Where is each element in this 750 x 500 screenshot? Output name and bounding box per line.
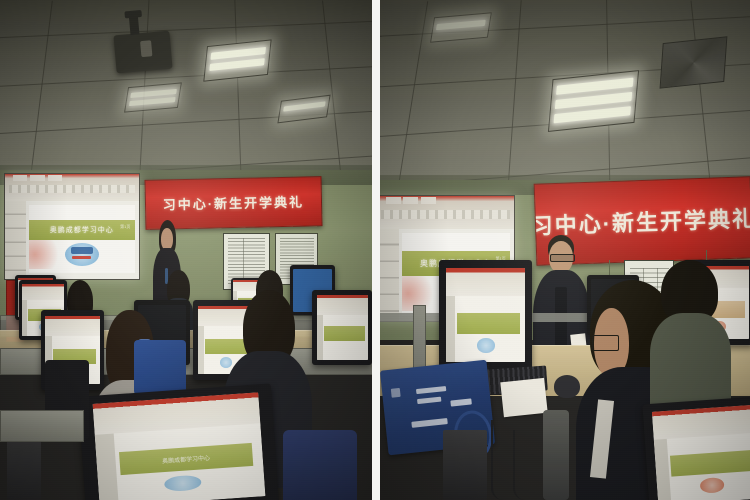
- ppt-slide-thumbnails: [380, 229, 399, 322]
- slide-logo: [65, 243, 99, 266]
- ceiling-light-1: [548, 70, 639, 132]
- ceiling-light-2: [125, 82, 183, 112]
- panel-divider: [372, 0, 380, 500]
- ppt-ribbon: [5, 174, 139, 201]
- office-chair-left: [283, 430, 357, 500]
- slide-page-number: 第1页: [120, 224, 130, 230]
- monitor-mid-4: [312, 290, 372, 365]
- ceiling-projector: [114, 30, 173, 72]
- glasses-icon: [550, 254, 574, 263]
- ppt-slide-thumbnails: [5, 201, 26, 279]
- foreground-monitor: 奥鹏成都学习中心: [78, 383, 279, 500]
- ceiling-light-1: [203, 39, 272, 81]
- foreground-monitor-right: [643, 396, 750, 500]
- mouse: [554, 375, 580, 398]
- ceiling-air-vent: [660, 36, 728, 88]
- projected-powerpoint: 奥鹏成都学习中心 第1页: [5, 174, 139, 279]
- student-second-row: [650, 260, 731, 400]
- foreground-monitor-screen: 奥鹏成都学习中心: [92, 393, 265, 500]
- glasses-icon: [592, 335, 619, 351]
- slide-title-band: 奥鹏成都学习中心: [29, 220, 135, 241]
- projection-screen: 奥鹏成都学习中心 第1页: [4, 173, 140, 280]
- foreground-slide-title: 奥鹏成都学习中心: [162, 452, 211, 464]
- ppt-slide: 奥鹏成都学习中心 第1页: [29, 205, 135, 273]
- ceremony-banner-text: 习中心·新生开学典礼: [163, 191, 305, 213]
- left-photo: 奥鹏成都学习中心 第1页 习中心·新生开学典礼: [0, 0, 372, 500]
- monitor-left: [439, 260, 532, 370]
- photo-collage: 奥鹏成都学习中心 第1页 习中心·新生开学典礼: [0, 0, 750, 500]
- right-photo: 奥鹏成都学习中心 第1页 习中心·新生开学典礼: [380, 0, 750, 500]
- slide-title: 奥鹏成都学习中心: [50, 225, 114, 235]
- computer-tower-right: [443, 430, 487, 500]
- desk-partition-front: [0, 410, 84, 442]
- blue-jacket: [134, 340, 186, 395]
- chair-post: [543, 410, 569, 500]
- foreground-slide-band: 奥鹏成都学习中心: [119, 443, 253, 475]
- ppt-ribbon: [380, 196, 514, 229]
- head: [161, 228, 172, 250]
- cables-2: [513, 430, 545, 500]
- documents: [500, 378, 548, 417]
